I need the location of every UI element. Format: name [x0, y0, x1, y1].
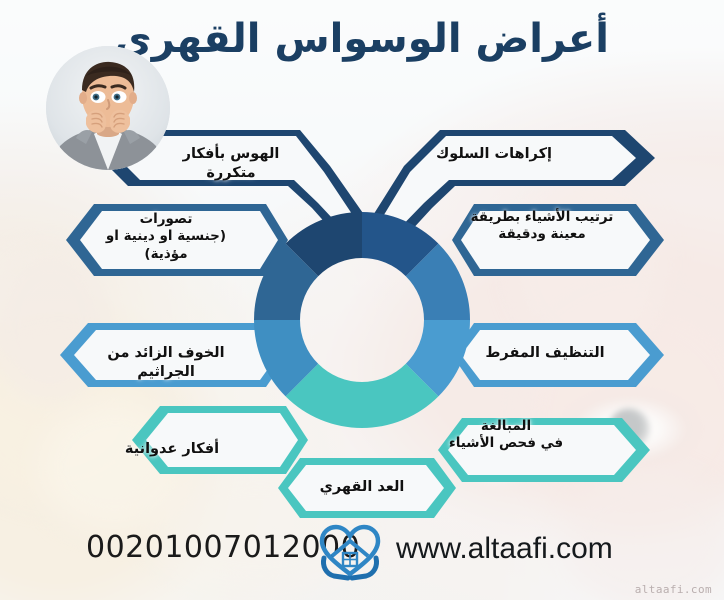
center-donut-chart	[254, 212, 470, 428]
heart-house-hands-logo	[314, 520, 386, 582]
infographic-canvas: أعراض الوسواس القهري	[0, 0, 724, 600]
website-url[interactable]: www.altaafi.com	[396, 532, 613, 566]
label-mid-upper-left: ترتيب الأشياء بطريقة معينة ودقيقة	[448, 209, 636, 244]
label-bottom-right: أفكار عدوانية	[90, 440, 254, 459]
center-portrait-photo	[46, 46, 170, 170]
label-bottom-center: العد القهري	[292, 478, 432, 497]
footer-bar: 00201007012000 www.altaafi.com	[0, 516, 724, 586]
label-bottom-left: المبالغة في فحص الأشياء	[440, 418, 572, 453]
label-top-left: إكراهات السلوك	[430, 145, 558, 164]
label-mid-lower-right: الخوف الزائد من الجراثيم	[82, 344, 250, 381]
scared-man-illustration	[46, 46, 170, 170]
label-mid-upper-right: تصورات (جنسية او دينية او مؤذية)	[82, 211, 250, 263]
label-mid-lower-left: التنظيف المفرط	[448, 344, 642, 363]
label-top-right: الهوس بأفكار متكررة	[166, 145, 296, 182]
watermark: altaafi.com	[635, 583, 712, 596]
